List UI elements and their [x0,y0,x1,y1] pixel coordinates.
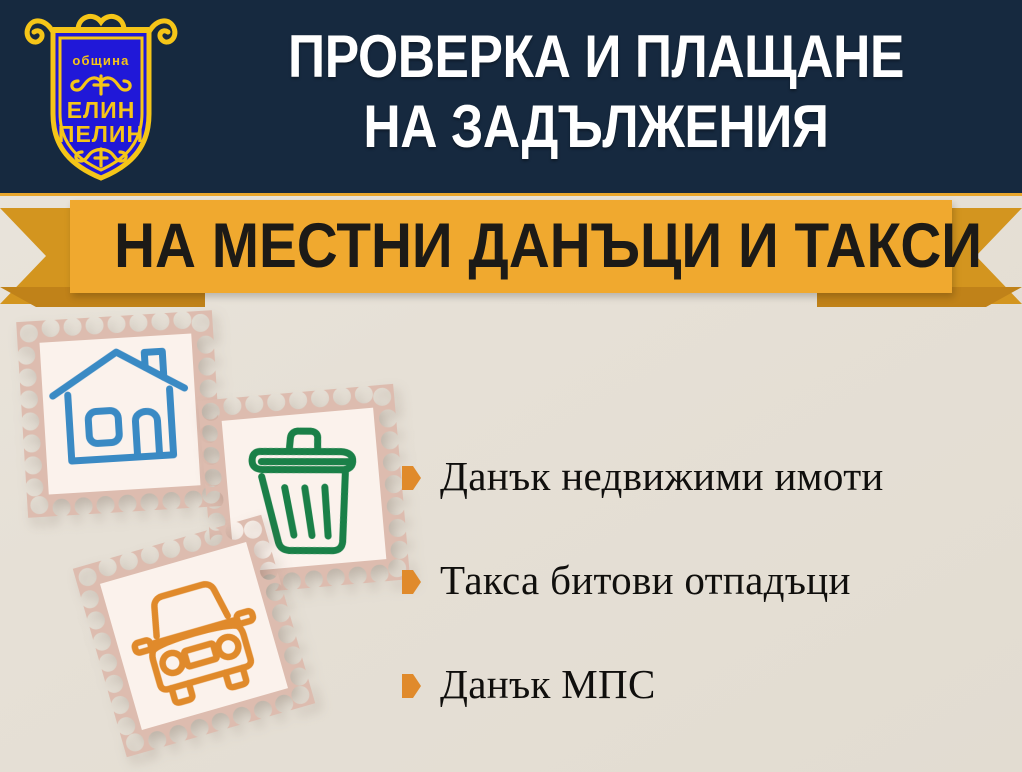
list-item-label: Данък МПС [440,660,656,708]
crest-word-obshtina: община [72,53,129,68]
page-title-line-1: ПРОВЕРКА И ПЛАЩАНЕ [288,23,904,90]
crest-word-elin: ЕЛИН [67,97,136,123]
municipality-crest-logo: община ЕЛИН ПЕЛИН [18,8,184,188]
list-item: Данък МПС [402,632,1012,736]
obligations-list: Данък недвижими имоти Такса битови отпад… [402,424,1012,736]
list-item-label: Данък недвижими имоти [440,452,884,500]
arrow-bullet-icon [402,570,421,594]
page-title: ПРОВЕРКА И ПЛАЩАНЕ НА ЗАДЪЛЖЕНИЯ [243,22,948,162]
ribbon-label: НА МЕСТНИ ДАНЪЦИ И ТАКСИ [114,200,908,293]
arrow-bullet-icon [402,674,421,698]
page-title-line-2: НА ЗАДЪЛЖЕНИЯ [243,92,948,162]
list-item-label: Такса битови отпадъци [440,556,851,604]
ribbon-banner: НА МЕСТНИ ДАНЪЦИ И ТАКСИ [70,200,952,293]
list-item: Данък недвижими имоти [402,424,1012,528]
poster-canvas: община ЕЛИН ПЕЛИН [0,0,1022,772]
stamp-house [16,310,224,518]
list-item: Такса битови отпадъци [402,528,1012,632]
crest-word-pelin: ПЕЛИН [58,121,144,147]
arrow-bullet-icon [402,466,421,490]
header-bar: община ЕЛИН ПЕЛИН [0,0,1022,196]
